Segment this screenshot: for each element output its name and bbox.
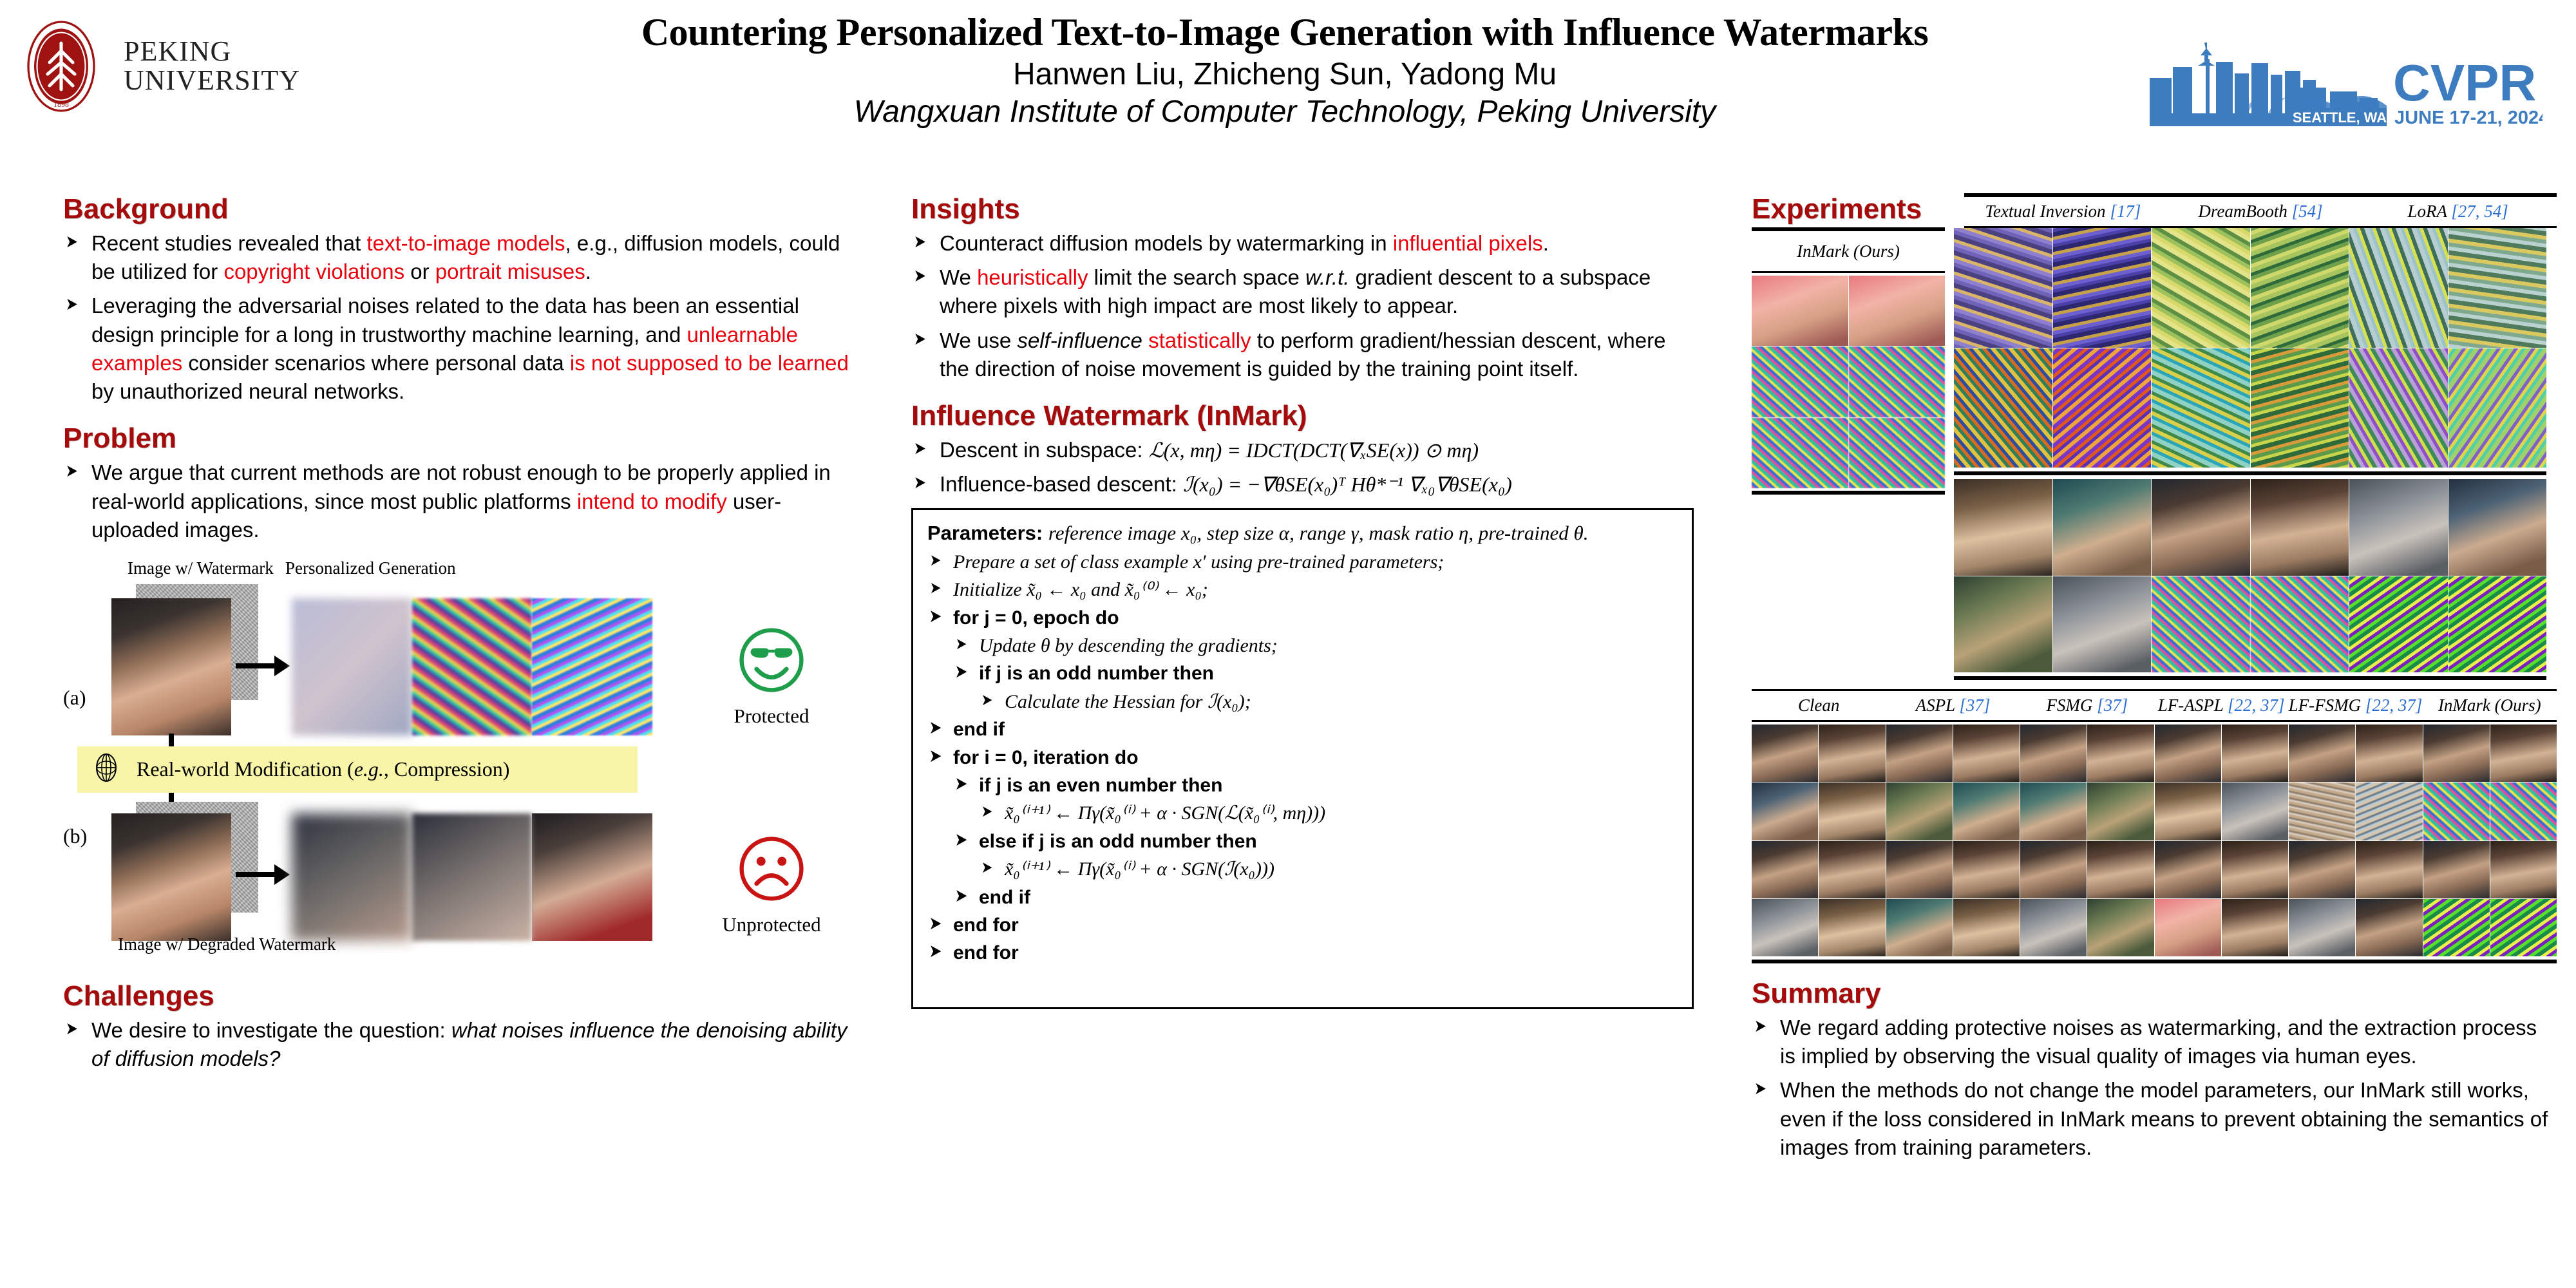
bullet-0-part-1: influential pixels	[1393, 231, 1543, 255]
algorithm-step-0: Prepare a set of class example x′ using …	[927, 550, 1678, 574]
bullet-item: Leveraging the adversarial noises relate…	[63, 292, 855, 406]
bullet-0-part-4: or	[404, 260, 435, 283]
algorithm-step-text: if j is an even number then	[979, 775, 1222, 796]
t2-cell-30	[2155, 841, 2221, 898]
algorithm-step-8: if j is an even number then	[953, 773, 1678, 798]
bullet-0-part-0: Counteract diffusion models by watermark…	[940, 231, 1393, 255]
t2-cell-39	[1953, 899, 2020, 956]
face-sample-8	[2152, 576, 2250, 673]
art-sample-4	[2349, 228, 2448, 348]
equation-influence-descent: Influence-based descent: ℐ(x₀) = −∇θSE(x…	[911, 470, 1694, 498]
face-sample-4	[2349, 479, 2448, 576]
watermarked-face-a	[111, 598, 231, 735]
table1-image-area	[1954, 228, 2546, 680]
t2-cell-28	[2020, 841, 2087, 898]
rowlabel-mid-rule	[1752, 271, 1945, 273]
art-sample-7	[2053, 348, 2152, 468]
equation-0-label: Descent in subspace:	[940, 438, 1143, 462]
face-sample-1	[2053, 479, 2152, 576]
t2-cell-18	[2155, 782, 2221, 840]
t2-cell-6	[2155, 724, 2221, 782]
inmark-sample-3	[1849, 346, 1946, 417]
t2-cell-10	[2423, 724, 2490, 782]
t2-cell-42	[2155, 899, 2221, 956]
algorithm-step-13: end for	[927, 913, 1678, 938]
section-heading-challenges: Challenges	[63, 980, 855, 1012]
bullet-item: Recent studies revealed that text-to-ima…	[63, 229, 855, 286]
t2-cell-23	[2490, 782, 2557, 840]
table2-col-aspl: ASPL [37]	[1886, 696, 2020, 715]
generated-image-a1	[292, 598, 412, 735]
bullet-1-part-3: w.r.t.	[1305, 265, 1349, 289]
t2-cell-41	[2087, 899, 2154, 956]
algorithm-step-2: for j = 0, epoch do	[927, 606, 1678, 630]
banner-part-1: e.g.	[354, 757, 384, 781]
unprotected-label: Unprotected	[697, 913, 846, 936]
cvpr-logo: SEATTLE, WA CVPR JUNE 17-21, 2024	[2143, 17, 2543, 129]
protected-label: Protected	[697, 705, 846, 728]
bullet-0-part-6: .	[585, 260, 591, 283]
t2-cell-12	[1752, 782, 1818, 840]
table2-bottom-rule	[1752, 960, 2557, 963]
table2-col3-name: LF-ASPL	[2158, 696, 2224, 715]
table1-col1-name: DreamBooth	[2198, 202, 2287, 221]
t2-cell-27	[1953, 841, 2020, 898]
algorithm-box: Parameters: reference image x₀, step siz…	[911, 508, 1694, 1009]
face-sample-3	[2251, 479, 2349, 576]
t2-cell-38	[1886, 899, 1953, 956]
protected-status: Protected	[697, 623, 846, 728]
column-middle: Insights Counteract diffusion models by …	[911, 193, 1694, 1009]
table2-col3-cite: [22, 37]	[2228, 696, 2285, 715]
inmark-sample-5	[1849, 418, 1946, 488]
inmark-sample-0	[1752, 276, 1848, 346]
table2-col5-name: InMark (Ours)	[2438, 696, 2541, 715]
bullet-2-part-3: statistically	[1148, 328, 1251, 352]
smiley-sunglasses-icon	[734, 623, 809, 697]
table2-col1-cite: [37]	[1959, 696, 1990, 715]
algorithm-step-text: end for	[953, 914, 1019, 936]
author-list: Hanwen Liu, Zhicheng Sun, Yadong Mu	[489, 56, 2080, 94]
results-table-1-body: InMark (Ours)	[1752, 228, 2557, 680]
results-table-2: Clean ASPL [37] FSMG [37] LF-ASPL [22, 3…	[1752, 689, 2557, 963]
t2-cell-37	[1819, 899, 1885, 956]
summary-bullets: We regard adding protective noises as wa…	[1752, 1014, 2557, 1162]
t2-cell-9	[2356, 724, 2422, 782]
t2-cell-14	[1886, 782, 1953, 840]
t2-cell-5	[2087, 724, 2154, 782]
bullet-item: When the methods do not change the model…	[1752, 1076, 2557, 1162]
table1-col-dreambooth: DreamBooth [54]	[2162, 202, 2360, 222]
generated-image-a2	[412, 598, 533, 735]
inmark-sample-1	[1849, 276, 1946, 346]
face-sample-10	[2349, 576, 2448, 673]
art-sample-0	[1954, 228, 2052, 348]
t2-cell-36	[1752, 899, 1818, 956]
t2-cell-31	[2222, 841, 2288, 898]
real-world-modification-banner: Real-world Modification (e.g., Compressi…	[77, 746, 638, 793]
t2-cell-47	[2490, 899, 2557, 956]
generated-image-b3	[532, 813, 652, 941]
t2-cell-17	[2087, 782, 2154, 840]
t2-cell-26	[1886, 841, 1953, 898]
bullet-2-part-1: self-influence	[1017, 328, 1142, 352]
t2-cell-44	[2289, 899, 2355, 956]
art-sample-8	[2152, 348, 2250, 468]
art-sample-6	[1954, 348, 2052, 468]
t2-cell-45	[2356, 899, 2422, 956]
face-sample-9	[2251, 576, 2349, 673]
column-left: Background Recent studies revealed that …	[63, 193, 855, 1079]
t2-cell-29	[2087, 841, 2154, 898]
table2-mid-rule	[1752, 720, 2557, 722]
equation-1-formula: ℐ(x₀) = −∇θSE(x₀)ᵀ Hθ*⁻¹ ∇ₓ₀∇θSE(x₀)	[1183, 473, 1512, 496]
table1-col-textual-inversion: Textual Inversion [17]	[1964, 202, 2162, 222]
algorithm-step-text: Initialize x̃₀ ← x₀ and x̃₀⁽⁰⁾ ← x₀;	[953, 579, 1208, 600]
bullet-0-part-5: portrait misuses	[435, 260, 585, 283]
bullet-item: We use self-influence statistically to p…	[911, 327, 1694, 383]
table2-col-inmark: InMark (Ours)	[2423, 696, 2557, 715]
section-heading-problem: Problem	[63, 422, 855, 455]
face-sample-7	[2053, 576, 2152, 673]
table1-col2-name: LoRA	[2408, 202, 2447, 221]
table1-col0-name: Textual Inversion	[1985, 202, 2105, 221]
banner-label: Real-world Modification (e.g., Compressi…	[137, 757, 509, 781]
figure-row-label-b: (b)	[63, 824, 87, 848]
t2-cell-40	[2020, 899, 2087, 956]
bullet-1-part-1: heuristically	[977, 265, 1088, 289]
art-sample-5	[2448, 228, 2547, 348]
inmark-sample-4	[1752, 418, 1848, 488]
arrow-a-to-generation	[236, 663, 276, 668]
generated-images-a	[292, 598, 652, 735]
face-sample-0	[1954, 479, 2052, 576]
table2-col1-name: ASPL	[1916, 696, 1955, 715]
table1-rowlabel-col: InMark (Ours)	[1752, 228, 1945, 680]
bullet-1-part-2: limit the search space	[1088, 265, 1305, 289]
poster-header: 1898 PEKING UNIVERSITY Countering Person…	[0, 0, 2576, 174]
inmark-sample-grid	[1752, 276, 1945, 488]
table2-face-grid	[1752, 724, 2557, 956]
bullet-1-part-0: When the methods do not change the model…	[1780, 1078, 2548, 1159]
background-bullets: Recent studies revealed that text-to-ima…	[63, 229, 855, 406]
algorithm-parameters: Parameters: reference image x₀, step siz…	[927, 520, 1678, 546]
algorithm-step-text: else if j is an odd number then	[979, 831, 1257, 852]
t2-cell-25	[1819, 841, 1885, 898]
unprotected-status: Unprotected	[697, 831, 846, 936]
pku-wordmark: PEKING UNIVERSITY	[124, 37, 300, 95]
table2-col2-cite: [37]	[2097, 696, 2128, 715]
algorithm-step-text: end if	[979, 887, 1030, 908]
t2-cell-8	[2289, 724, 2355, 782]
art-sample-3	[2251, 228, 2349, 348]
affiliation: Wangxuan Institute of Computer Technolog…	[489, 93, 2080, 131]
algorithm-step-text: x̃₀⁽ⁱ⁺¹⁾ ← Πγ(x̃₀⁽ⁱ⁾ + α · SGN(ℐ(x₀)))	[1005, 858, 1274, 880]
t2-cell-24	[1752, 841, 1818, 898]
table1-col0-cite: [17]	[2110, 202, 2141, 221]
section-heading-insights: Insights	[911, 193, 1694, 225]
column-right: Experiments Textual Inversion [17] Dream…	[1752, 193, 2557, 1168]
algorithm-step-1: Initialize x̃₀ ← x₀ and x̃₀⁽⁰⁾ ← x₀;	[927, 578, 1678, 602]
section-heading-inmark: Influence Watermark (InMark)	[911, 400, 1694, 432]
rowlabel-bottom-rule	[1752, 491, 1945, 495]
bullet-2-part-2	[1142, 328, 1148, 352]
face-sample-6	[1954, 576, 2052, 673]
art-sample-11	[2448, 348, 2547, 468]
algorithm-parameters-text: reference image x₀, step size α, range γ…	[1048, 522, 1589, 544]
table1-column-headers: Textual Inversion [17] DreamBooth [54] L…	[1964, 197, 2557, 226]
inmark-sample-2	[1752, 346, 1848, 417]
algorithm-step-text: Update θ by descending the gradients;	[979, 635, 1278, 656]
table1-face-grid	[1954, 479, 2546, 672]
t2-cell-34	[2423, 841, 2490, 898]
bullet-0-part-0: Recent studies revealed that	[91, 231, 366, 255]
degraded-watermark-face-b	[111, 813, 231, 941]
algorithm-step-text: for i = 0, iteration do	[953, 747, 1139, 768]
algorithm-step-4: if j is an odd number then	[953, 661, 1678, 686]
algorithm-step-text: end for	[953, 942, 1019, 963]
table2-col0-name: Clean	[1798, 696, 1840, 715]
t2-cell-19	[2222, 782, 2288, 840]
cvpr-location: SEATTLE, WA	[2293, 109, 2387, 126]
experiments-header: Experiments Textual Inversion [17] Dream…	[1752, 193, 2557, 228]
bullet-item: We heuristically limit the search space …	[911, 263, 1694, 320]
figure-caption-personalized-generation: Personalized Generation	[285, 558, 456, 578]
algorithm-step-text: for j = 0, epoch do	[953, 607, 1119, 629]
inmark-equations: Descent in subspace: ℒ(x, mη) = IDCT(DCT…	[911, 436, 1694, 498]
bullet-0-part-1: text-to-image models	[366, 231, 565, 255]
algorithm-step-text: end if	[953, 719, 1005, 740]
t2-cell-3	[1953, 724, 2020, 782]
bullet-item: Counteract diffusion models by watermark…	[911, 229, 1694, 258]
svg-text:1898: 1898	[53, 100, 69, 109]
section-heading-experiments: Experiments	[1752, 193, 1964, 225]
t2-cell-22	[2423, 782, 2490, 840]
algorithm-steps: Prepare a set of class example x′ using …	[927, 550, 1678, 966]
algorithm-step-10: else if j is an odd number then	[953, 829, 1678, 854]
algorithm-step-text: Calculate the Hessian for ℐ(x₀);	[1005, 691, 1251, 712]
generated-images-b	[292, 813, 652, 941]
bullet-item: We regard adding protective noises as wa…	[1752, 1014, 2557, 1070]
t2-cell-32	[2289, 841, 2355, 898]
t2-cell-1	[1819, 724, 1885, 782]
table1-gap	[1945, 228, 1954, 680]
pku-seal-icon: 1898	[13, 18, 109, 115]
table1-art-grid	[1954, 228, 2546, 468]
bullet-item: We desire to investigate the question: w…	[63, 1016, 855, 1073]
equation-1-label: Influence-based descent:	[940, 472, 1177, 496]
banner-part-0: Real-world Modification (	[137, 757, 354, 781]
bullet-2-part-0: We use	[940, 328, 1017, 352]
t2-cell-2	[1886, 724, 1953, 782]
t2-cell-46	[2423, 899, 2490, 956]
t2-cell-20	[2289, 782, 2355, 840]
problem-bullets: We argue that current methods are not ro…	[63, 459, 855, 544]
table2-column-headers: Clean ASPL [37] FSMG [37] LF-ASPL [22, 3…	[1752, 691, 2557, 720]
algorithm-step-5: Calculate the Hessian for ℐ(x₀);	[979, 690, 1678, 714]
cvpr-name: CVPR	[2393, 54, 2536, 111]
bullet-1-part-3: is not supposed to be learned	[570, 351, 849, 375]
bullet-1-part-4: by unauthorized neural networks.	[91, 379, 404, 403]
results-table-1: Textual Inversion [17] DreamBooth [54] L…	[1964, 193, 2557, 228]
face-sample-2	[2152, 479, 2250, 576]
algorithm-step-3: Update θ by descending the gradients;	[953, 634, 1678, 658]
figure-caption-image-watermark: Image w/ Watermark	[128, 558, 274, 578]
art-sample-1	[2053, 228, 2152, 348]
section-heading-summary: Summary	[1752, 978, 2557, 1010]
t2-cell-11	[2490, 724, 2557, 782]
algorithm-step-9: x̃₀⁽ⁱ⁺¹⁾ ← Πγ(x̃₀⁽ⁱ⁾ + α · SGN(ℒ(x̃₀⁽ⁱ⁾,…	[979, 801, 1678, 826]
algorithm-step-12: end if	[953, 885, 1678, 910]
peking-university-logo: 1898 PEKING UNIVERSITY	[13, 18, 300, 115]
table2-col4-name: LF-FSMG	[2289, 696, 2361, 715]
arrow-b-to-generation	[236, 872, 276, 877]
art-sample-10	[2349, 348, 2448, 468]
generated-image-b1	[292, 813, 412, 941]
algorithm-step-text: if j is an odd number then	[979, 663, 1214, 684]
t2-cell-4	[2020, 724, 2087, 782]
title-block: Countering Personalized Text-to-Image Ge…	[489, 12, 2080, 131]
algorithm-step-text: x̃₀⁽ⁱ⁺¹⁾ ← Πγ(x̃₀⁽ⁱ⁾ + α · SGN(ℒ(x̃₀⁽ⁱ⁾,…	[1005, 802, 1325, 824]
algorithm-step-text: Prepare a set of class example x′ using …	[953, 551, 1444, 573]
t2-cell-7	[2222, 724, 2288, 782]
generated-image-a3	[532, 598, 652, 735]
table2-col-lf-fsmg: LF-FSMG [22, 37]	[2288, 696, 2422, 715]
face-sample-11	[2448, 576, 2547, 673]
poster-title: Countering Personalized Text-to-Image Ge…	[489, 12, 2080, 53]
face-sample-5	[2448, 479, 2547, 576]
t2-cell-13	[1819, 782, 1885, 840]
algorithm-step-7: for i = 0, iteration do	[927, 746, 1678, 770]
bullet-1-part-2: consider scenarios where personal data	[182, 351, 570, 375]
generated-image-b2	[412, 813, 533, 941]
table2-col-fsmg: FSMG [37]	[2020, 696, 2154, 715]
globe-icon	[93, 753, 120, 786]
t2-cell-35	[2490, 841, 2557, 898]
algorithm-step-14: end for	[927, 941, 1678, 965]
algorithm-parameters-label: Parameters:	[927, 522, 1043, 544]
pku-line-2: UNIVERSITY	[124, 66, 300, 95]
t2-cell-16	[2020, 782, 2087, 840]
figure-row-label-a: (a)	[63, 686, 86, 710]
algorithm-step-6: end if	[927, 717, 1678, 742]
banner-part-2: , Compression)	[384, 757, 510, 781]
equation-0-formula: ℒ(x, mη) = IDCT(DCT(∇ₓSE(x)) ⊙ mη)	[1149, 439, 1479, 462]
equation-descent-subspace: Descent in subspace: ℒ(x, mη) = IDCT(DCT…	[911, 436, 1694, 464]
bullet-0-part-1: intend to modify	[577, 489, 727, 513]
table2-col-lf-aspl: LF-ASPL [22, 37]	[2154, 696, 2288, 715]
t2-cell-21	[2356, 782, 2422, 840]
bullet-item: We argue that current methods are not ro…	[63, 459, 855, 544]
pku-line-1: PEKING	[124, 37, 300, 66]
bullet-0-part-0: We regard adding protective noises as wa…	[1780, 1016, 2537, 1068]
figure-caption-degraded-watermark: Image w/ Degraded Watermark	[118, 934, 910, 954]
art-sample-9	[2251, 348, 2349, 468]
bullet-1-part-0: We	[940, 265, 977, 289]
insights-bullets: Counteract diffusion models by watermark…	[911, 229, 1694, 383]
bullet-0-part-2: .	[1543, 231, 1549, 255]
bullet-0-part-3: copyright violations	[223, 260, 404, 283]
table1-mid-rule	[1964, 226, 2557, 228]
table1-col1-cite: [54]	[2292, 202, 2323, 221]
table1-sep-rule	[1954, 471, 2546, 475]
table1-row-label: InMark (Ours)	[1752, 231, 1945, 271]
section-heading-background: Background	[63, 193, 855, 225]
watermark-pipeline-figure: Image w/ Watermark Personalized Generati…	[63, 558, 855, 932]
bullet-0-part-0: We desire to investigate the question:	[91, 1018, 451, 1042]
cvpr-dates: JUNE 17-21, 2024	[2394, 108, 2543, 128]
t2-cell-15	[1953, 782, 2020, 840]
table2-col-clean: Clean	[1752, 696, 1886, 715]
challenges-bullets: We desire to investigate the question: w…	[63, 1016, 855, 1073]
t2-cell-43	[2222, 899, 2288, 956]
table1-bottom-rule	[1954, 676, 2546, 680]
frowning-face-icon	[734, 831, 809, 906]
table2-col4-cite: [22, 37]	[2365, 696, 2423, 715]
table1-col2-cite: [27, 54]	[2451, 202, 2508, 221]
algorithm-step-11: x̃₀⁽ⁱ⁺¹⁾ ← Πγ(x̃₀⁽ⁱ⁾ + α · SGN(ℐ(x₀)))	[979, 857, 1678, 882]
t2-cell-33	[2356, 841, 2422, 898]
art-sample-2	[2152, 228, 2250, 348]
table1-col-lora: LoRA [27, 54]	[2359, 202, 2557, 222]
t2-cell-0	[1752, 724, 1818, 782]
table2-col2-name: FSMG	[2046, 696, 2092, 715]
